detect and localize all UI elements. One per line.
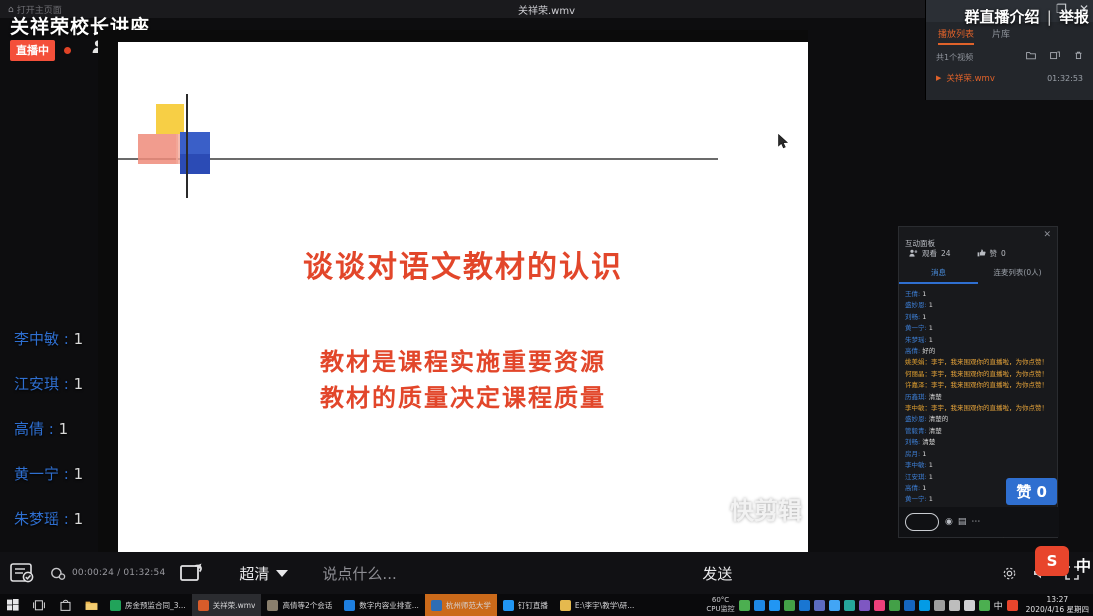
player-controls: 00:00:24 / 01:32:54 超清 说点什么... 发送: [0, 552, 1093, 594]
photos-icon[interactable]: [934, 600, 945, 611]
shield-icon[interactable]: [784, 600, 795, 611]
chat-message-text: 1: [929, 473, 933, 481]
chat-message-text: 1: [929, 324, 933, 332]
chat-message-text: 1: [929, 461, 933, 469]
folder-add-icon[interactable]: [1026, 51, 1036, 63]
playlist-item-duration: 01:32:53: [1047, 74, 1083, 83]
clock-time: 13:27: [1026, 595, 1089, 605]
tray-icon-group: [739, 600, 990, 611]
chat-message-text: 清楚: [929, 427, 942, 435]
taskbar-task-label: 数字内容业排查...: [359, 600, 419, 611]
more-icon[interactable]: ⋯: [971, 517, 980, 527]
tab-messages[interactable]: 消息: [899, 267, 978, 284]
chat-message-text: 清楚的: [929, 415, 949, 423]
taskbar-task-label: E:\李宇\教学\研...: [575, 600, 635, 611]
logo-red-block: [138, 134, 178, 164]
header-separator: |: [1047, 8, 1052, 26]
chat-message-text: 1: [929, 301, 933, 309]
list-item: 江安琪 : 1: [14, 373, 104, 394]
taskbar-task-icon: [503, 600, 514, 611]
chat-message: 历鑫琪: 清楚: [905, 392, 1051, 403]
chat-message: 何丽晶：李宇，我来围观你的直播啦，为你点赞！: [905, 369, 1051, 380]
time-readout: 00:00:24 / 01:32:54: [72, 568, 165, 578]
chat-value: 1: [59, 420, 69, 438]
chat-name: 高倩: [14, 420, 44, 438]
sogou-logo: S: [1047, 552, 1058, 570]
taskbar-task[interactable]: 关祥荣.wmv: [192, 594, 262, 616]
chat-message-user: 何丽晶: [905, 370, 925, 378]
chat-message: 高倩: 好的: [905, 346, 1051, 357]
taskbar-task-label: 钉钉直播: [518, 600, 548, 611]
slide-line-1: 教材是课程实施重要资源: [118, 342, 808, 377]
taskbar-tray: 60°C CPU监控 中 13:27 2020/4/16 星期四: [706, 595, 1093, 615]
taskbar-task-icon: [110, 600, 121, 611]
stat-likes-label: 赞: [990, 248, 998, 259]
trash-icon[interactable]: [1074, 51, 1083, 63]
chat-message-text: 1: [929, 495, 933, 503]
chat-message-text: 好的: [922, 347, 935, 355]
chat-message: 刘畅: 清楚: [905, 437, 1051, 448]
sogou-tray-icon[interactable]: [1007, 600, 1018, 611]
mouse-cursor-icon: [778, 134, 789, 153]
chat-message-user: 盛妙恩: [905, 415, 925, 423]
paint-icon[interactable]: [889, 600, 900, 611]
chat-message-user: 刘畅: [905, 438, 918, 446]
window-controls: ❐ ✕: [1056, 2, 1089, 16]
sogou-icon[interactable]: S: [1035, 546, 1069, 576]
chat-name: 朱梦瑶: [14, 510, 59, 528]
usb-icon[interactable]: [949, 600, 960, 611]
chat-message-user: 高倩: [905, 347, 918, 355]
taskbar-task-icon: [267, 600, 278, 611]
chat-message-text: 清楚: [922, 438, 935, 446]
chat-message: 刘畅: 1: [905, 312, 1051, 323]
chat-message: 管毅青: 清楚: [905, 426, 1051, 437]
taskbar-task[interactable]: 房金预监合同_3...: [104, 594, 192, 616]
chat-message-user: 黄一宁: [905, 495, 925, 503]
viewer-icon: [909, 249, 918, 259]
play-icon: ▶: [936, 74, 941, 82]
send-button[interactable]: 发送: [702, 563, 732, 584]
chat-message-text: 清楚: [929, 393, 942, 401]
globe-icon[interactable]: [859, 600, 870, 611]
chat-message-text: 1: [929, 336, 933, 344]
chat-message: 黄一宁: 1: [905, 323, 1051, 334]
chat-message: 许嘉泽：李宇，我来围观你的直播啦，为你点赞！: [905, 380, 1051, 391]
playlist-item-name: 关祥荣.wmv: [946, 72, 994, 84]
chat-message-text: 1: [922, 290, 926, 298]
play-icon[interactable]: [754, 600, 765, 611]
taskbar-task-icon: [560, 600, 571, 611]
taskbar-task[interactable]: 高倩等2个会话: [261, 594, 338, 616]
tab-mic-list[interactable]: 连麦列表(0人): [978, 267, 1057, 284]
playlist-meta: 共1个视频: [926, 45, 1093, 63]
chat-message: 李中敏: 1: [905, 460, 1051, 471]
volume-icon[interactable]: [979, 600, 990, 611]
chat-message-user: 历鑫琪: [905, 393, 925, 401]
playlist-actions: [1026, 51, 1083, 63]
interaction-panel-title: 互动面板: [905, 239, 935, 248]
screen-root: ⌂ 打开主页面 关祥荣.wmv 关祥荣校长讲座 直播中 24 人观看: [0, 0, 1093, 616]
ime-mode-indicator[interactable]: 中: [1076, 555, 1091, 576]
taskbar-task[interactable]: 数字内容业排查...: [338, 594, 425, 616]
chat-input[interactable]: 说点什么...: [322, 552, 672, 594]
taskbar-task-label: 房金预监合同_3...: [125, 600, 186, 611]
interaction-tabs: 消息 连麦列表(0人): [899, 267, 1057, 284]
video-stage[interactable]: 谈谈对语文教材的认识 教材是课程实施重要资源 教材的质量决定课程质量 快剪辑: [98, 30, 808, 552]
logo-vbar: [186, 94, 188, 198]
chat-message-user: 刘畅: [905, 313, 918, 321]
like-button[interactable]: 赞 0: [1006, 478, 1057, 505]
interaction-panel-footer: ◉ ▤ ⋯: [899, 507, 1059, 537]
windows-start-icon[interactable]: [0, 594, 26, 616]
chat-message-text: 1: [922, 450, 926, 458]
user-icon[interactable]: [844, 600, 855, 611]
taskbar-task-icon: [431, 600, 442, 611]
task-view-icon[interactable]: [26, 594, 52, 616]
list-item: 朱梦瑶 : 1: [14, 508, 104, 529]
video-count-label: 共1个视频: [936, 52, 973, 63]
chat-message: 姚美娟：李宇，我来围观你的直播啦，为你点赞！: [905, 357, 1051, 368]
presentation-slide: 谈谈对语文教材的认识 教材是课程实施重要资源 教材的质量决定课程质量: [118, 42, 808, 552]
quality-label: 超清: [239, 563, 269, 584]
chat-name: 黄一宁: [14, 465, 59, 483]
flag-icon[interactable]: [829, 600, 840, 611]
cpu-label: CPU监控: [706, 605, 734, 614]
tab-library[interactable]: 片库: [992, 27, 1010, 45]
stat-likes-value: 0: [1001, 249, 1006, 258]
chat-name: 江安琪: [14, 375, 59, 393]
taskbar-system-icons: [0, 594, 104, 616]
loop-icon[interactable]: [165, 560, 219, 586]
copy-icon[interactable]: [1050, 51, 1060, 63]
mic-oval-icon[interactable]: [905, 513, 939, 531]
chat-message-text: 1: [922, 313, 926, 321]
stat-viewers: 观看 24: [909, 248, 951, 259]
chat-message-user: 李中敏: [905, 404, 925, 412]
chat-message: 盛妙恩: 清楚的: [905, 414, 1051, 425]
chat-message-text: 李宇，我来围观你的直播啦，为你点赞！: [931, 404, 1048, 412]
chat-message: 李中敏：李宇，我来围观你的直播啦，为你点赞！: [905, 403, 1051, 414]
interaction-panel-header: 互动面板 ✕: [899, 227, 1057, 245]
taskbar-task[interactable]: 钉钉直播: [497, 594, 554, 616]
taskbar-task[interactable]: E:\李宇\教学\研...: [554, 594, 641, 616]
chat-value: 1: [74, 375, 84, 393]
logo-blue-block-2: [180, 154, 210, 174]
network-icon[interactable]: [964, 600, 975, 611]
tab-playlist[interactable]: 播放列表: [938, 27, 974, 45]
close-icon[interactable]: ✕: [1043, 230, 1051, 240]
list-item: 黄一宁 : 1: [14, 463, 104, 484]
chat-message-text: 李宇，我来围观你的直播啦，为你点赞！: [931, 358, 1048, 366]
chat-message-user: 姚美娟: [905, 358, 925, 366]
chat-input-placeholder: 说点什么...: [322, 563, 396, 584]
camera-app-icon[interactable]: [874, 600, 885, 611]
chat-message-user: 黄一宁: [905, 324, 925, 332]
clock-date: 2020/4/16 星期四: [1026, 605, 1089, 615]
taskbar-task-label: 高倩等2个会话: [282, 600, 332, 611]
chat-message-user: 李中敏: [905, 461, 925, 469]
battery-icon[interactable]: [739, 600, 750, 611]
floating-chat-overlay: 李中敏 : 1 江安琪 : 1 高倩 : 1 黄一宁 : 1 朱梦瑶 : 1: [14, 328, 104, 553]
chat-message: 盛妙恩: 1: [905, 300, 1051, 311]
chat-message: 房月: 1: [905, 449, 1051, 460]
taskbar-task-label: 杭州师范大学: [446, 600, 491, 611]
stat-viewers-label: 观看: [922, 248, 937, 259]
thumbs-up-icon: [977, 249, 986, 259]
stat-likes: 赞 0: [977, 248, 1006, 259]
clock[interactable]: 13:27 2020/4/16 星期四: [1022, 595, 1089, 615]
list-item: 高倩 : 1: [14, 418, 104, 439]
settings-icon[interactable]: ▤: [958, 517, 967, 527]
chat-name: 李中敏: [14, 330, 59, 348]
explorer-icon[interactable]: [78, 594, 104, 616]
live-status: 直播中: [10, 40, 71, 61]
close-button[interactable]: ✕: [1079, 2, 1089, 16]
chat-message-text: 李宇，我来围观你的直播啦，为你点赞！: [931, 381, 1048, 389]
q-icon[interactable]: [769, 600, 780, 611]
chat-message-user: 房月: [905, 450, 918, 458]
cpu-temp: 60°C: [706, 596, 734, 605]
ime-lang-indicator[interactable]: 中: [994, 599, 1003, 612]
gear-icon[interactable]: [1002, 566, 1017, 581]
quality-selector[interactable]: 超清: [239, 563, 288, 584]
blue-app-icon[interactable]: [799, 600, 810, 611]
slide-line-2: 教材的质量决定课程质量: [118, 378, 808, 413]
chevron-down-icon: [276, 570, 288, 577]
chat-message: 王倩: 1: [905, 289, 1051, 300]
store-icon[interactable]: [52, 594, 78, 616]
excel-icon[interactable]: [904, 600, 915, 611]
chat-message-text: 李宇，我来围观你的直播啦，为你点赞！: [931, 370, 1048, 378]
chat-value: 1: [74, 330, 84, 348]
group-intro-link[interactable]: 群直播介绍: [964, 8, 1039, 26]
recording-dot-icon: [64, 47, 71, 54]
taskbar: 房金预监合同_3...关祥荣.wmv高倩等2个会话数字内容业排查...杭州师范大…: [0, 594, 1093, 616]
slide-logo: [138, 104, 228, 194]
taskbar-task-icon: [198, 600, 209, 611]
f-icon[interactable]: [919, 600, 930, 611]
chat-message-user: 许嘉泽: [905, 381, 925, 389]
watermark: 快剪辑: [730, 491, 802, 526]
stat-viewers-value: 24: [941, 249, 951, 258]
logo-yellow-block: [156, 104, 184, 134]
chat-message: 朱梦瑶: 1: [905, 335, 1051, 346]
chat-message-text: 1: [922, 484, 926, 492]
footer-icon-group: ◉ ▤ ⋯: [945, 517, 980, 527]
chat-message-user: 王倩: [905, 290, 918, 298]
printer-icon[interactable]: [814, 600, 825, 611]
chat-message-user: 管毅青: [905, 427, 925, 435]
taskbar-task[interactable]: 杭州师范大学: [425, 594, 497, 616]
chat-value: 1: [74, 465, 84, 483]
chat-value: 1: [74, 510, 84, 528]
restore-button[interactable]: ❐: [1056, 2, 1067, 16]
screenshot-icon[interactable]: [0, 561, 48, 585]
playlist-item[interactable]: ▶ 关祥荣.wmv 01:32:53: [926, 72, 1093, 84]
chat-message-user: 高倩: [905, 484, 918, 492]
chat-message-user: 盛妙恩: [905, 301, 925, 309]
chat-message-user: 朱梦瑶: [905, 336, 925, 344]
taskbar-task-label: 关祥荣.wmv: [213, 600, 256, 611]
list-item: 李中敏 : 1: [14, 328, 104, 349]
taskbar-tasks: 房金预监合同_3...关祥荣.wmv高倩等2个会话数字内容业排查...杭州师范大…: [104, 594, 640, 616]
status-badge: 直播中: [10, 40, 55, 61]
camera-icon[interactable]: ◉: [945, 517, 953, 527]
taskbar-task-icon: [344, 600, 355, 611]
record-icon[interactable]: [48, 565, 68, 581]
slide-title: 谈谈对语文教材的认识: [118, 242, 808, 286]
cpu-monitor[interactable]: 60°C CPU监控: [706, 596, 734, 614]
interaction-panel: 互动面板 ✕ 观看 24 赞 0 消息 连麦列表(0人) 王倩: 1盛: [898, 226, 1058, 538]
chat-message-user: 江安琪: [905, 473, 925, 481]
